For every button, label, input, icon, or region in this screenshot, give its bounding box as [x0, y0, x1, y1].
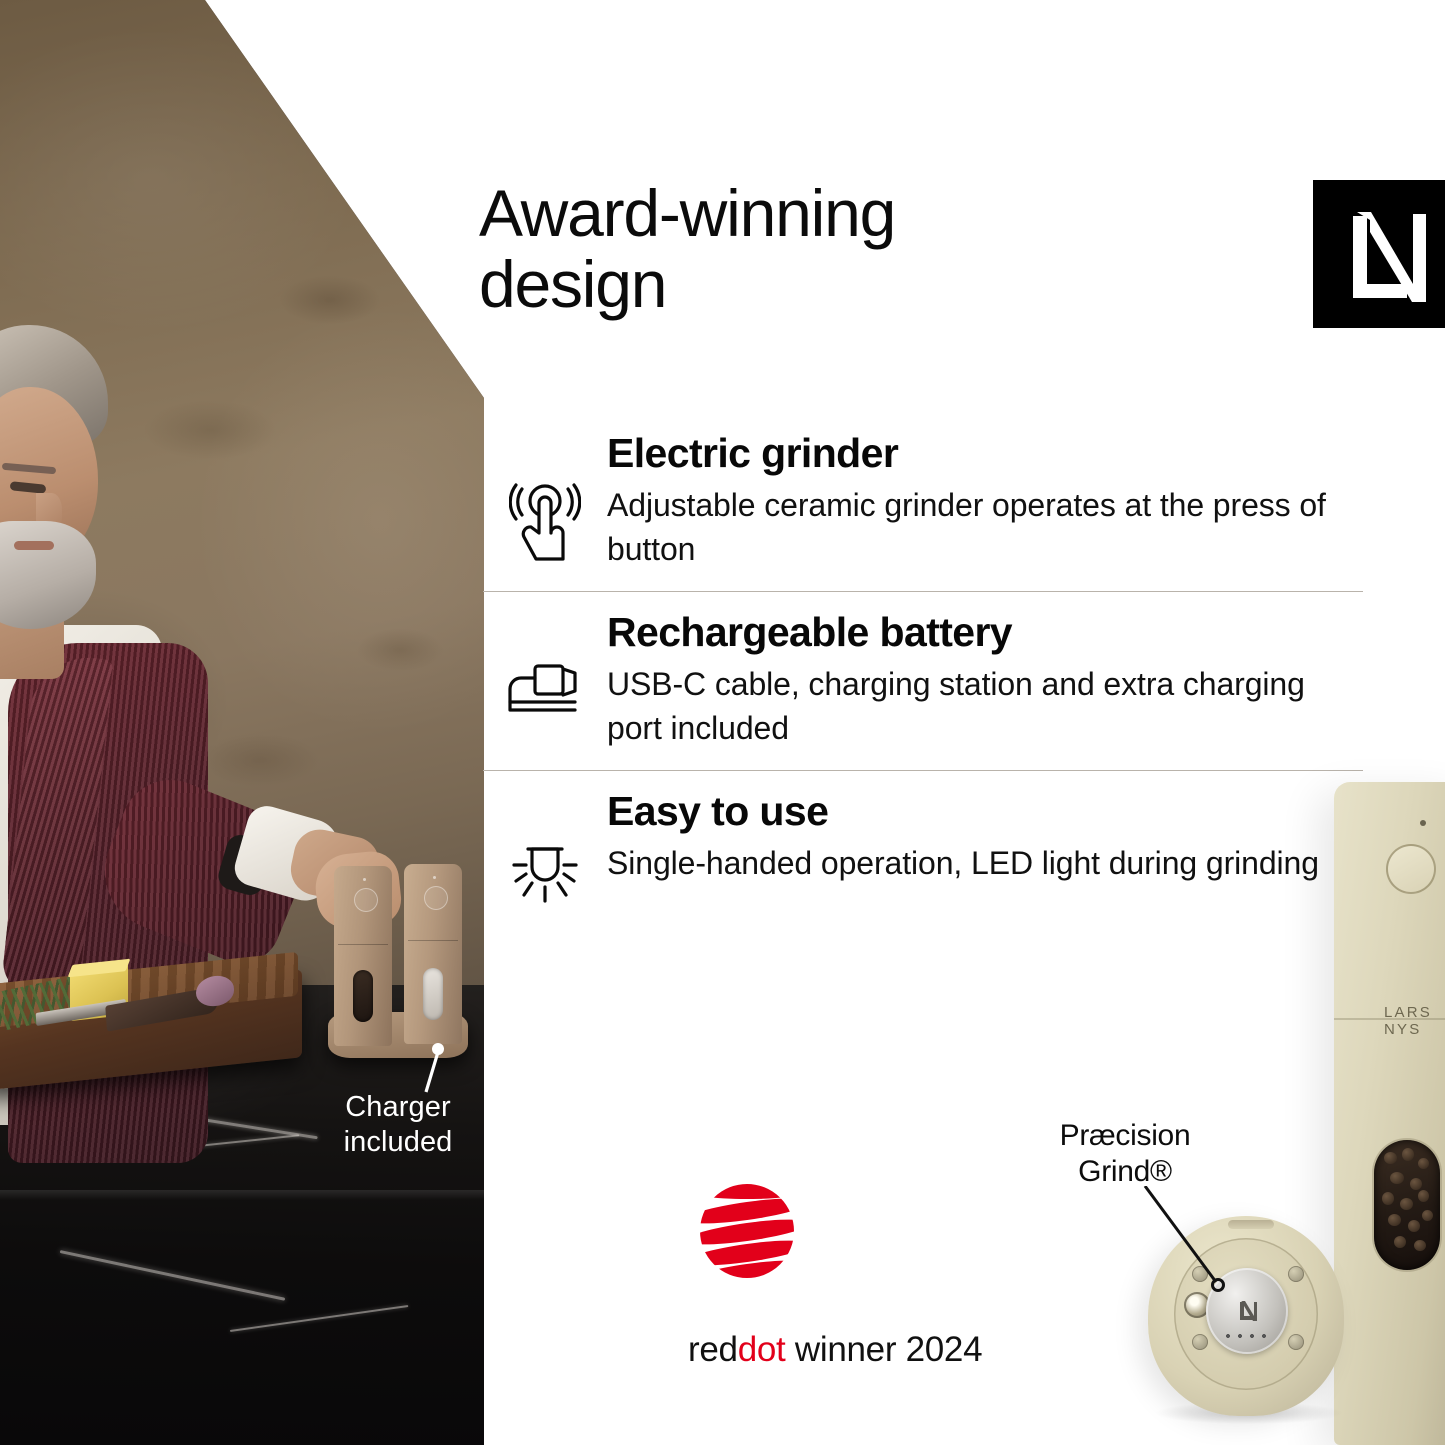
feature-title: Electric grinder — [607, 431, 1343, 477]
grinder-button — [354, 888, 378, 912]
reddot-award: reddot winner 2024 — [688, 1180, 1028, 1370]
feature-text: Rechargeable battery USB-C cable, chargi… — [607, 610, 1363, 750]
peppercorn-window — [1374, 1140, 1440, 1270]
callout-charger-label: Charger included — [344, 1091, 453, 1158]
body-seam — [408, 940, 458, 941]
led-indicator-icon — [1420, 820, 1426, 826]
counter-edge-highlight — [0, 1190, 484, 1200]
led-lamp-icon — [483, 789, 607, 913]
screw-icon — [1192, 1334, 1208, 1350]
feature-description: Single-handed operation, LED light durin… — [607, 841, 1343, 885]
led-indicator-icon — [363, 878, 366, 881]
feature-title: Rechargeable battery — [607, 610, 1343, 656]
feature-description: Adjustable ceramic grinder operates at t… — [607, 483, 1343, 571]
feature-text: Electric grinder Adjustable ceramic grin… — [607, 431, 1363, 571]
feature-row: Electric grinder Adjustable ceramic grin… — [483, 413, 1363, 591]
lifestyle-photo-panel — [0, 0, 484, 1445]
feature-list: Electric grinder Adjustable ceramic grin… — [483, 413, 1363, 933]
screw-icon — [1288, 1334, 1304, 1350]
usb-c-plug-icon — [483, 610, 607, 722]
reddot-award-label: reddot winner 2024 — [688, 1330, 1028, 1370]
pepper-grinder — [334, 866, 392, 1046]
feature-title: Easy to use — [607, 789, 1343, 835]
led-indicator-icon — [433, 876, 436, 879]
peppercorn-window — [353, 970, 373, 1022]
grinder-button — [424, 886, 448, 910]
reddot-dot-text: dot — [738, 1330, 786, 1369]
coarseness-indicator-dots — [1224, 1332, 1268, 1340]
callout-precision-label: Præcision Grind® — [1060, 1119, 1191, 1188]
product-grinder-hero: LARS NYS — [1334, 782, 1445, 1445]
body-seam — [338, 944, 388, 945]
feature-row: Easy to use Single-handed operation, LED… — [483, 770, 1363, 933]
callout-charger-included: Charger included — [312, 1090, 484, 1161]
salt-window — [423, 968, 443, 1020]
salt-grinder — [404, 864, 462, 1044]
reddot-winner-text: winner 2024 — [785, 1330, 982, 1369]
feature-description: USB-C cable, charging station and extra … — [607, 662, 1343, 750]
reddot-red-text: red — [688, 1330, 738, 1369]
lips — [14, 541, 54, 550]
callout-precision-grind: Præcision Grind® — [1025, 1118, 1225, 1190]
ln-monogram-logo-icon — [1313, 180, 1445, 328]
precision-leader-line — [1140, 1186, 1260, 1294]
screw-icon — [1288, 1266, 1304, 1282]
grinder-power-button — [1386, 844, 1436, 894]
tap-gesture-icon — [483, 431, 607, 563]
feature-row: Rechargeable battery USB-C cable, chargi… — [483, 591, 1363, 770]
reddot-sphere-logo-icon — [696, 1180, 798, 1282]
beard — [0, 521, 96, 629]
page-title: Award-winning design — [479, 178, 1079, 321]
product-wordmark: LARS NYS — [1384, 1004, 1445, 1038]
feature-text: Easy to use Single-handed operation, LED… — [607, 789, 1363, 885]
